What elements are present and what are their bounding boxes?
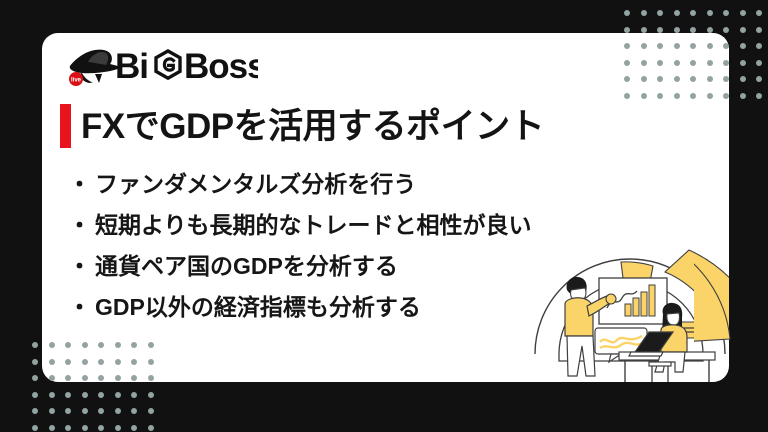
bar-chart-board (599, 278, 667, 324)
decorative-dot (674, 27, 680, 33)
message-bubble (679, 322, 703, 338)
decorative-dot (115, 408, 121, 414)
decorative-dot (690, 10, 696, 16)
svg-text:Boss: Boss (184, 47, 258, 86)
decorative-dot (115, 425, 121, 431)
decorative-dot (707, 27, 713, 33)
decorative-dot (148, 408, 154, 414)
gauge-arc-yellow (665, 250, 729, 336)
decorative-dot (32, 375, 38, 381)
decorative-dot (740, 10, 746, 16)
list-item: ・ 短期よりも長期的なトレードと相性が良い (68, 214, 532, 237)
red-accent-bar (60, 104, 71, 148)
svg-text:Bi: Bi (115, 47, 148, 86)
decorative-dot (82, 408, 88, 414)
decorative-dot (690, 27, 696, 33)
decorative-dot (82, 392, 88, 398)
decorative-dot (32, 408, 38, 414)
decorative-dot (657, 10, 663, 16)
list-item-label: GDP以外の経済指標も分析する (95, 296, 421, 319)
svg-text:live: live (71, 78, 82, 84)
decorative-dot (98, 425, 104, 431)
hexagon-g-mark (156, 51, 180, 78)
decorative-dot (32, 425, 38, 431)
decorative-dot (65, 392, 71, 398)
decorative-dot (82, 425, 88, 431)
bullet-marker-icon: ・ (68, 173, 91, 196)
decorative-dot (148, 392, 154, 398)
decorative-dot (657, 27, 663, 33)
brand-logo[interactable]: live Bi Boss (62, 41, 258, 89)
decorative-dot (131, 392, 137, 398)
gauge-arc-yellow (621, 262, 653, 298)
decorative-dot (49, 425, 55, 431)
desk-surface (619, 352, 715, 360)
decorative-dot (756, 10, 762, 16)
bullet-marker-icon: ・ (68, 255, 91, 278)
slide-canvas: live Bi Boss FXでGDPを活用するポイント (0, 0, 768, 432)
list-item: ・ GDP以外の経済指標も分析する (68, 296, 532, 319)
decorative-dot (740, 43, 746, 49)
decorative-dot (624, 27, 630, 33)
decorative-dot (756, 76, 762, 82)
decorative-dot (723, 10, 729, 16)
line-chart-speech-bubble (595, 328, 647, 362)
bullet-marker-icon: ・ (68, 296, 91, 319)
decorative-dot (32, 359, 38, 365)
decorative-dot (641, 10, 647, 16)
decorative-dot (707, 10, 713, 16)
decorative-dot (740, 60, 746, 66)
decorative-dot (131, 425, 137, 431)
decorative-dot (740, 93, 746, 99)
decorative-dot (32, 342, 38, 348)
decorative-dot (756, 93, 762, 99)
gauge-inner-dome (559, 282, 703, 361)
woman-at-desk-with-laptop (629, 303, 687, 382)
decorative-dot (65, 425, 71, 431)
logo-wordmark: live Bi Boss (62, 42, 258, 88)
decorative-dot (148, 425, 154, 431)
decorative-dot (723, 27, 729, 33)
decorative-dot (98, 392, 104, 398)
bullet-list: ・ ファンダメンタルズ分析を行う ・ 短期よりも長期的なトレードと相性が良い ・… (68, 173, 532, 337)
man-pointing-at-chart (565, 277, 616, 376)
list-item-label: 通貨ペア国のGDPを分析する (95, 255, 398, 278)
business-analytics-illustration (525, 186, 729, 382)
decorative-dot (98, 408, 104, 414)
page-title: FXでGDPを活用するポイント (60, 104, 544, 148)
list-item: ・ 通貨ペア国のGDPを分析する (68, 255, 532, 278)
decorative-dot (756, 43, 762, 49)
decorative-dot (641, 27, 647, 33)
list-item: ・ ファンダメンタルズ分析を行う (68, 173, 532, 196)
decorative-dot (65, 408, 71, 414)
decorative-dot (32, 392, 38, 398)
decorative-dot (756, 27, 762, 33)
decorative-dot (131, 408, 137, 414)
bullet-marker-icon: ・ (68, 214, 91, 237)
page-title-text: FXでGDPを活用するポイント (81, 109, 544, 144)
decorative-dot (624, 10, 630, 16)
decorative-dot (115, 392, 121, 398)
detective-hat-icon: live (69, 50, 118, 86)
decorative-dot (674, 10, 680, 16)
list-item-label: ファンダメンタルズ分析を行う (95, 173, 416, 196)
decorative-dot (740, 27, 746, 33)
decorative-dot (740, 76, 746, 82)
decorative-dot (49, 392, 55, 398)
decorative-dot (49, 408, 55, 414)
list-item-label: 短期よりも長期的なトレードと相性が良い (95, 214, 532, 237)
gauge-arc-outline (535, 259, 725, 354)
content-card: live Bi Boss FXでGDPを活用するポイント (42, 33, 729, 382)
decorative-dot (756, 60, 762, 66)
